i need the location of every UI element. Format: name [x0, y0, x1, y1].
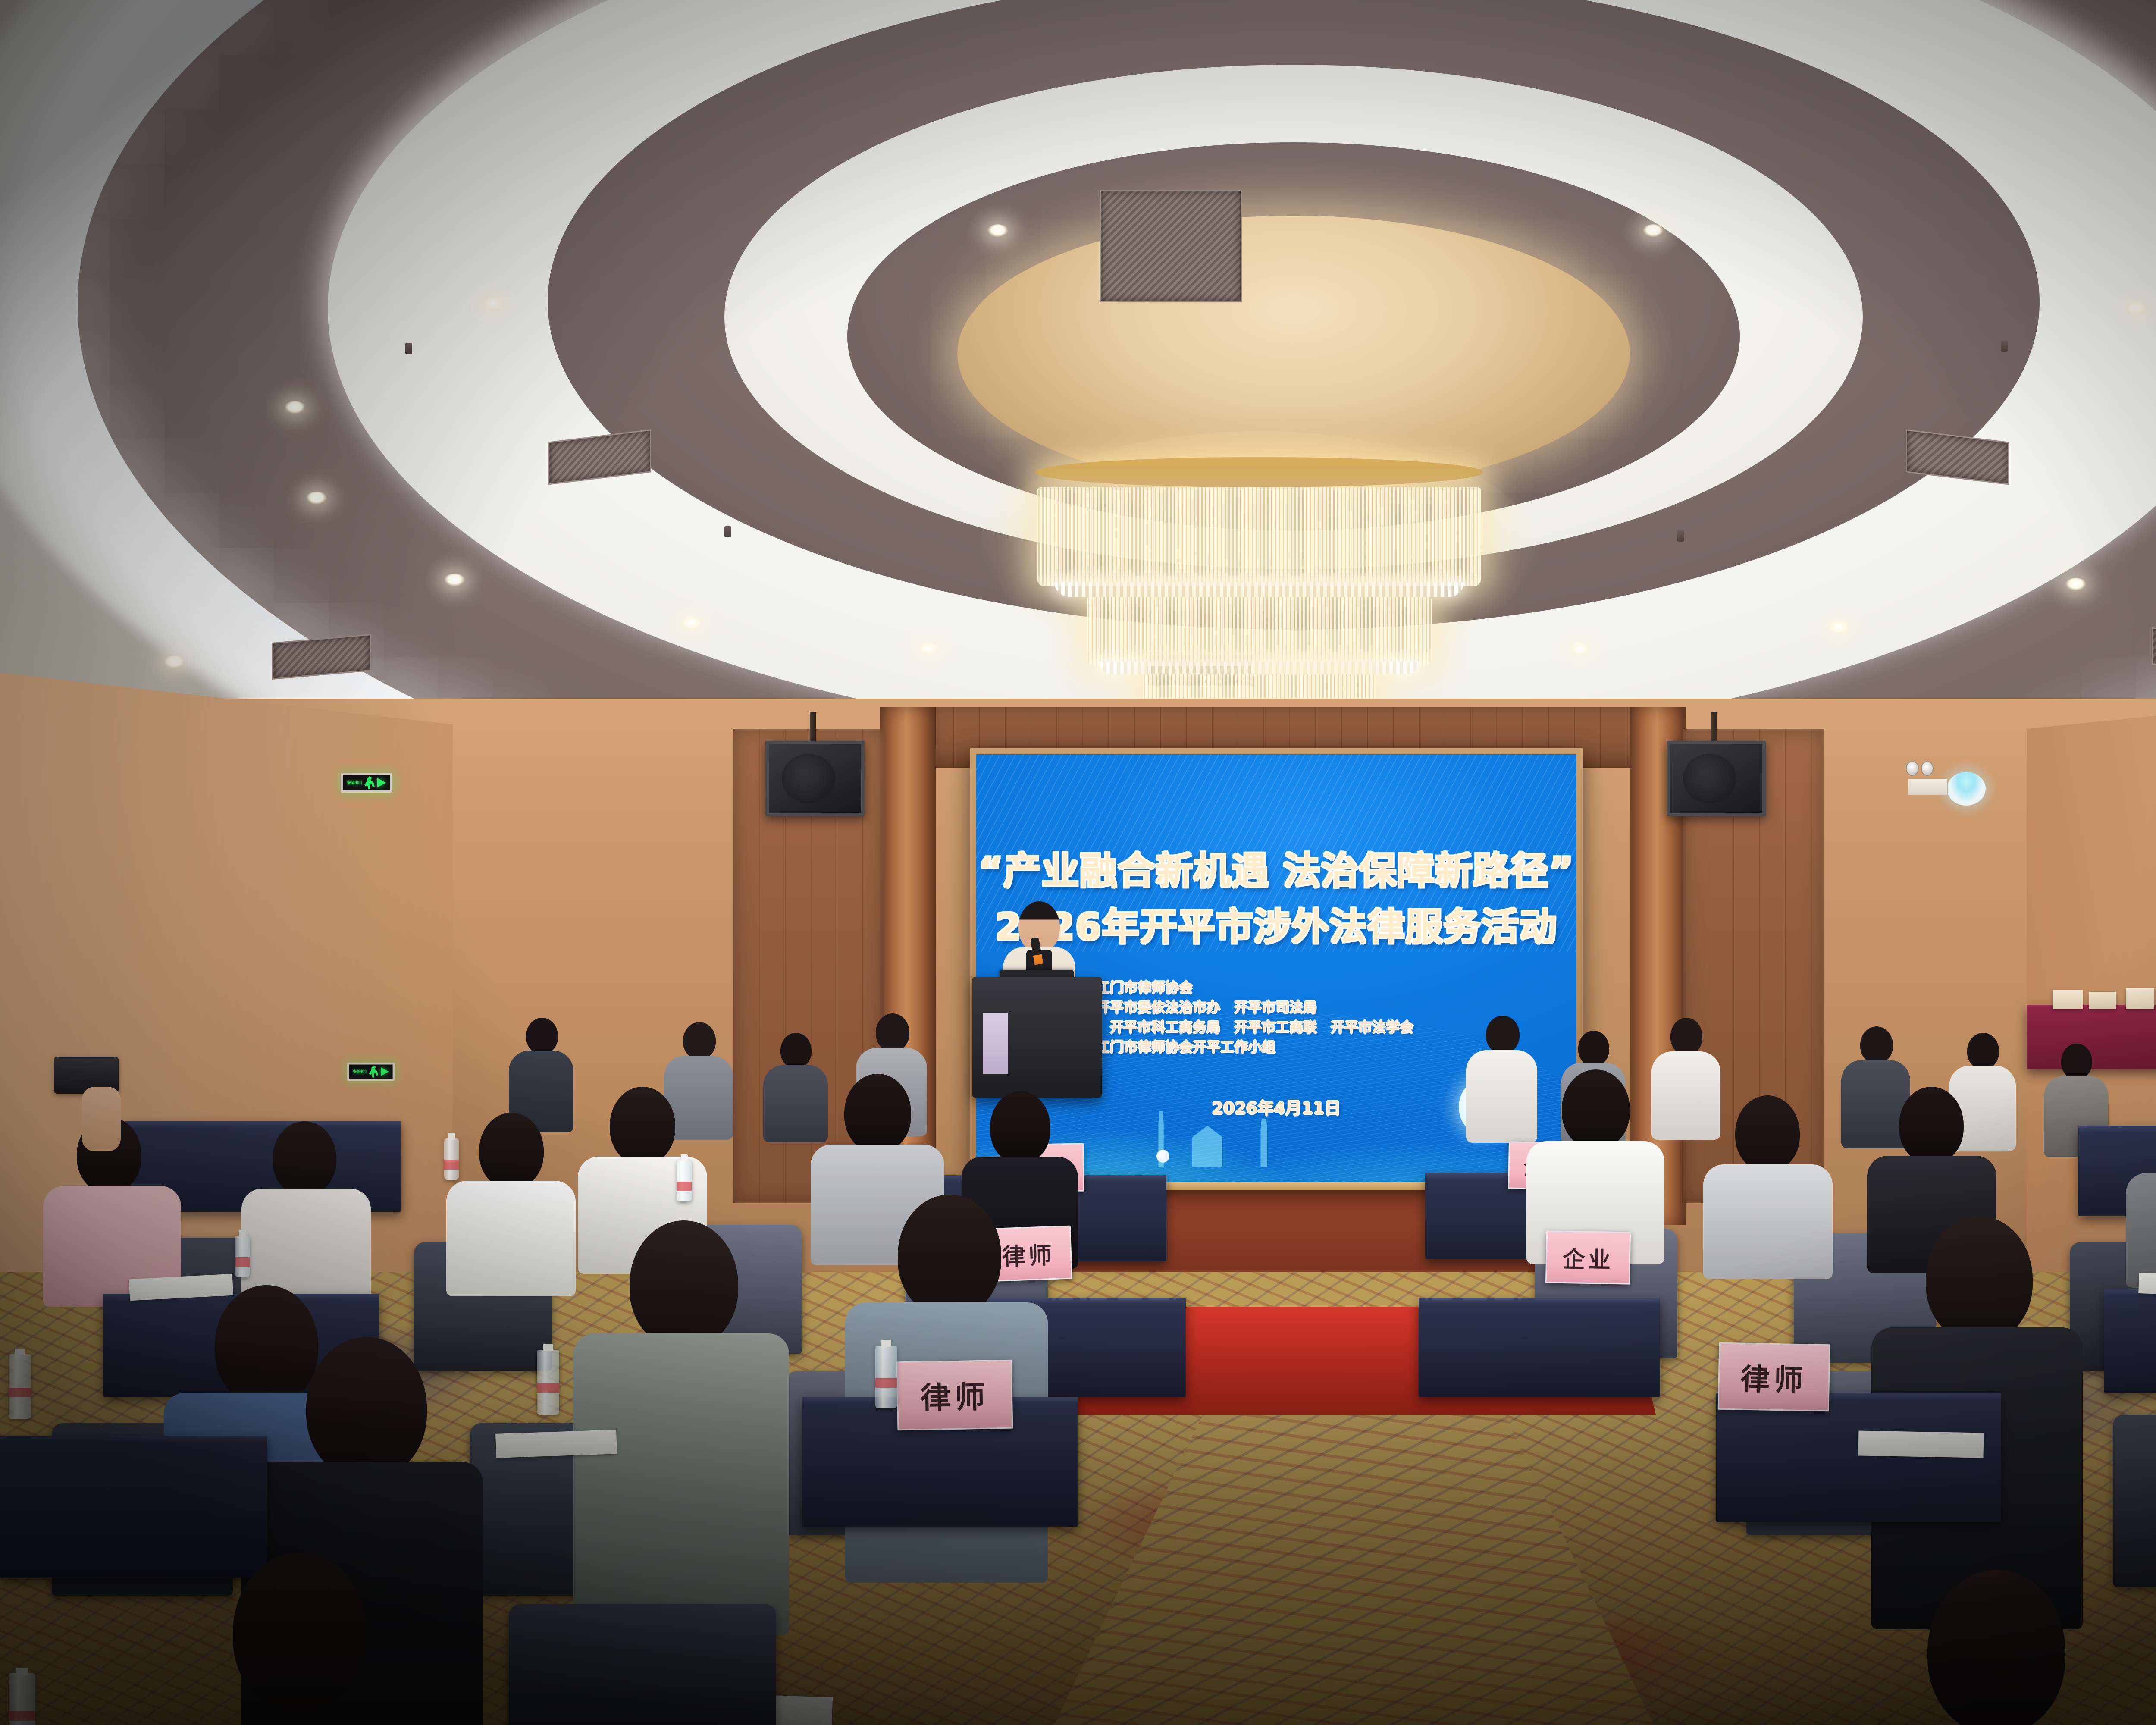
- ceiling-downlight: [306, 492, 327, 505]
- name-card-lawyer: 律师: [896, 1360, 1013, 1431]
- attendee-torso: [573, 1333, 789, 1635]
- attendee-head: [1578, 1031, 1609, 1066]
- attendee-head: [1860, 1026, 1893, 1063]
- attendee-head: [876, 1013, 909, 1051]
- attendee-head: [526, 1018, 558, 1054]
- screen-headline: “产业融合新机遇 法治保障新路径”: [976, 841, 1576, 894]
- attendee-head: [990, 1091, 1050, 1164]
- attendee: [1703, 1095, 1833, 1272]
- attendee-torso: [241, 1189, 371, 1301]
- table-edge: [1419, 1298, 1660, 1305]
- attendee-torso: [446, 1181, 576, 1296]
- arrow-right-icon: [381, 1067, 389, 1076]
- attendee: [446, 1113, 576, 1289]
- sprinkler-head: [724, 526, 731, 537]
- ceiling-downlight: [285, 401, 305, 414]
- attendee-head: [630, 1220, 738, 1348]
- screen-org-line-2: 主办单位：开平市委依法治市办 开平市司法局: [1027, 998, 1564, 1017]
- table-front-right: [1716, 1393, 2001, 1522]
- attendee-torso: [2126, 1173, 2156, 1288]
- ceiling-downlight: [2126, 302, 2147, 315]
- attendee-head: [844, 1074, 911, 1152]
- exit-sign-lower: 安全出口: [347, 1063, 395, 1081]
- attendee-head: [233, 1552, 367, 1712]
- attendee-head: [1486, 1016, 1520, 1054]
- speaker-bracket-right: [1711, 712, 1717, 742]
- water-bottle[interactable]: [444, 1138, 459, 1180]
- attendee-head: [1899, 1087, 1964, 1164]
- sprinkler-head: [1677, 530, 1684, 542]
- conference-hall-photo: 安全出口 安全出口 “产业融合新机遇 法治保障新路径” 2026年开平市涉外法律…: [0, 0, 2156, 1725]
- name-card-enterprise: 企业: [1545, 1230, 1631, 1284]
- chandelier-crown: [1035, 457, 1483, 487]
- chair[interactable]: [2113, 1414, 2156, 1587]
- water-bottle[interactable]: [677, 1160, 692, 1201]
- supply-box: [2089, 992, 2116, 1009]
- ceiling-downlight: [1570, 643, 1590, 655]
- attendee-head: [1927, 1570, 2065, 1725]
- sprinkler-head: [2001, 341, 2008, 352]
- ceiling-downlight: [444, 574, 465, 586]
- water-bottle[interactable]: [9, 1354, 31, 1419]
- exit-sign-label: 安全出口: [347, 781, 362, 785]
- running-man-icon: [368, 1066, 379, 1078]
- handout-paper[interactable]: [495, 1430, 617, 1458]
- attendee-head: [1926, 1216, 2033, 1342]
- water-bottle[interactable]: [537, 1350, 559, 1414]
- attendee-foreground: [573, 1220, 789, 1630]
- name-card-label: 律师: [1740, 1355, 1808, 1399]
- wall-info-plate: [1908, 779, 1948, 795]
- ceiling-downlight: [2065, 578, 2086, 591]
- water-bottle[interactable]: [235, 1236, 250, 1277]
- ceiling-downlight: [1643, 224, 1664, 237]
- ceiling-downlight: [987, 224, 1008, 237]
- screen-dot-graphic: [1156, 1150, 1169, 1163]
- attendee-head: [1670, 1018, 1702, 1055]
- ceiling-air-vent: [1100, 190, 1242, 302]
- water-bottle[interactable]: [875, 1345, 897, 1408]
- ceiling-downlight: [483, 298, 504, 310]
- arrow-right-icon: [377, 778, 386, 787]
- attendee-head: [898, 1195, 1001, 1316]
- attendee-with-phone: [13, 1057, 125, 1220]
- emergency-light: [1906, 761, 1934, 776]
- ceiling-downlight: [164, 655, 185, 668]
- ceiling-downlight: [681, 617, 702, 630]
- name-card-label: 企业: [1562, 1241, 1614, 1274]
- ceiling-gold-dome: [957, 216, 1630, 492]
- ceiling-downlight: [918, 643, 939, 655]
- attendee-head: [1562, 1069, 1630, 1149]
- table-row2-right: [1419, 1298, 1660, 1397]
- attendee-head: [610, 1087, 675, 1164]
- attendee: [2126, 1104, 2156, 1281]
- attendee-head: [479, 1113, 544, 1189]
- table-row2-far-right: [2104, 1289, 2156, 1393]
- handout-paper[interactable]: [1858, 1430, 1984, 1458]
- attendee-head: [683, 1022, 716, 1059]
- exit-sign-label: 安全出口: [353, 1070, 367, 1073]
- chandelier-bead-ring-2: [1100, 662, 1419, 674]
- attendee-head: [1967, 1033, 1999, 1069]
- running-man-icon: [364, 776, 375, 789]
- attendee-head: [273, 1121, 336, 1195]
- pa-speaker-right[interactable]: [1667, 741, 1766, 816]
- emergency-lamp: [1906, 761, 1919, 776]
- sprinkler-head: [405, 343, 412, 354]
- table-edge: [0, 1436, 267, 1443]
- raised-hand: [82, 1087, 121, 1151]
- chandelier-bead-ring-1: [1054, 582, 1464, 597]
- screen-org-line-1: 指导单位：江门市律师协会: [1027, 979, 1564, 997]
- attendee: [241, 1121, 371, 1294]
- supply-box: [2126, 988, 2154, 1009]
- speaker-bracket-left: [810, 712, 816, 742]
- attendee-foreground: [164, 1552, 431, 1725]
- emergency-lamp: [1921, 761, 1934, 776]
- attendee-head: [1735, 1095, 1800, 1171]
- supply-box: [2053, 990, 2083, 1009]
- attendee-foreground: [1854, 1570, 2130, 1725]
- handout-paper[interactable]: [2138, 1273, 2156, 1297]
- podium-front-panel-light: [983, 1013, 1008, 1074]
- chandelier-tier-1: [1037, 487, 1481, 586]
- attendee-head: [2061, 1044, 2092, 1079]
- attendee-head: [306, 1337, 427, 1479]
- dome-wall-light: [1947, 772, 1986, 806]
- attendee-torso: [1703, 1164, 1833, 1279]
- exit-sign-upper: 安全出口: [341, 773, 392, 793]
- water-bottle[interactable]: [9, 1673, 35, 1725]
- chair[interactable]: [509, 1604, 776, 1725]
- chandelier-tier-2: [1087, 597, 1432, 666]
- name-card-label: 律师: [920, 1373, 989, 1418]
- pa-speaker-left[interactable]: [765, 741, 865, 816]
- ceiling-downlight: [1828, 621, 1849, 634]
- name-card-lawyer: 律师: [1718, 1342, 1830, 1411]
- attendee-head: [780, 1033, 812, 1068]
